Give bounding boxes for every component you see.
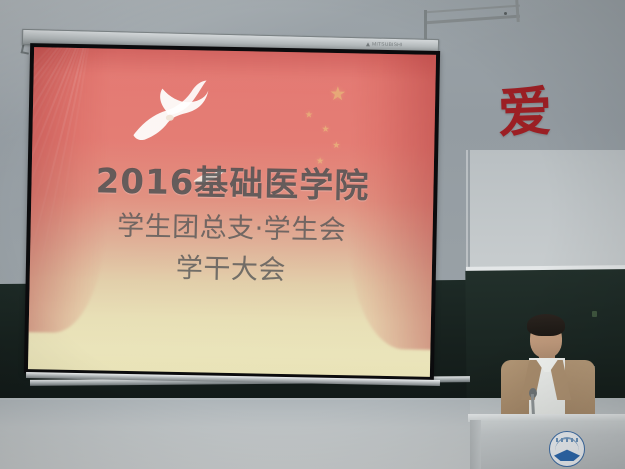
podium-top-surface [468,414,625,422]
emblem-tick [561,438,563,442]
slide-title: 2016基础医学院 [31,152,434,209]
brand-logo-label: MITSUBISHI [372,41,403,48]
emblem-tick [571,438,573,442]
slide-subtitle-2: 学干大会 [30,243,433,290]
dove-icon [125,77,210,149]
hair [527,314,565,336]
emblem-tick [566,438,568,442]
bracket-screw-icon [504,12,507,15]
emblem-tick [556,438,558,442]
wall-calligraphy-love: 爱 [489,77,561,149]
brand-logo-icon: MITSUBISHI [366,41,420,49]
photo-scene: MITSUBISHI ★★★★★ 2016基础医学院 学生团总支· [0,0,625,469]
podium [470,420,625,469]
presentation-slide: ★★★★★ 2016基础医学院 学生团总支·学生会 学干大会 [28,47,436,377]
slide-subtitle-1: 学生团总支·学生会 [30,202,433,249]
podium-emblem-icon [549,431,585,467]
flag-star-icon: ★ [329,85,346,104]
projection-screen: ★★★★★ 2016基础医学院 学生团总支·学生会 学干大会 [24,43,440,381]
podium-left-edge [470,420,481,469]
flag-star-icon: ★ [332,141,340,150]
lower-wall-left [0,400,470,469]
emblem-tick [576,438,578,442]
flag-star-icon: ★ [322,125,330,134]
flag-star-icon: ★ [305,110,313,119]
wall-seam [466,150,468,275]
